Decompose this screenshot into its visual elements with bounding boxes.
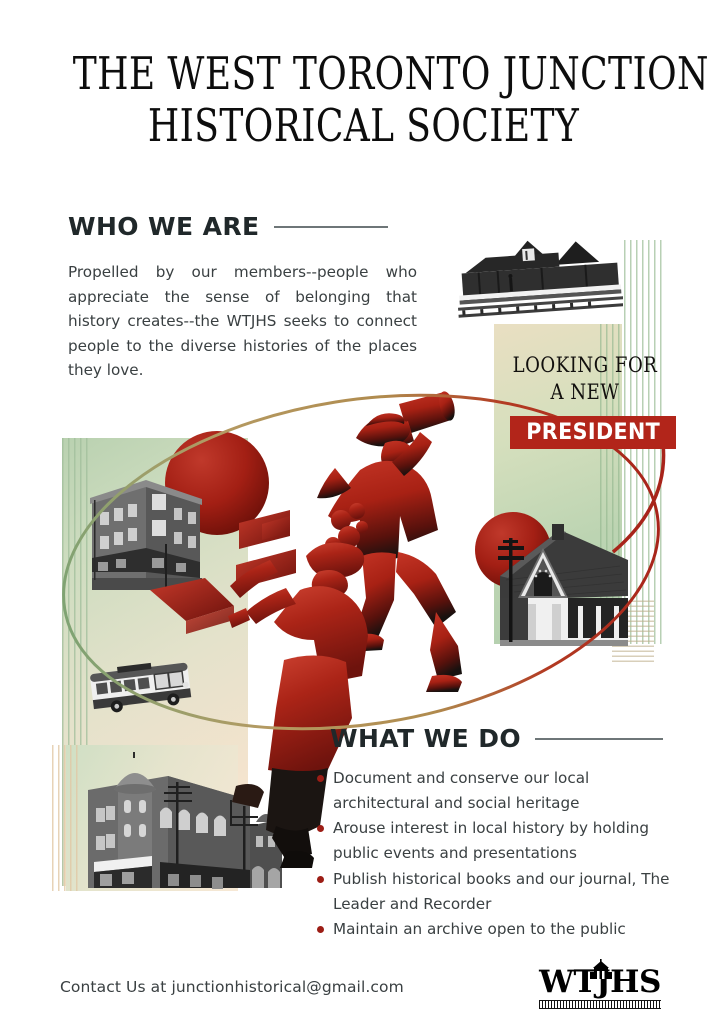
- what-we-do-heading-label: WHAT WE DO: [330, 724, 521, 753]
- callout-line-1: LOOKING FOR: [507, 352, 664, 379]
- who-we-are-body: Propelled by our members--people who app…: [68, 260, 417, 383]
- list-item: Publish historical books and our journal…: [316, 867, 676, 916]
- logo-building-icon: [588, 959, 614, 981]
- title-line-1: THE WEST TORONTO JUNCTION: [73, 48, 655, 100]
- bottom-left-gradient-panel: [66, 745, 238, 891]
- callout-line-2: A NEW: [507, 379, 664, 406]
- list-item: Document and conserve our local architec…: [316, 766, 676, 815]
- who-we-are-rule: [274, 226, 388, 228]
- list-item: Maintain an archive open to the public: [316, 917, 676, 942]
- poster-canvas: THE WEST TORONTO JUNCTION HISTORICAL SOC…: [0, 0, 727, 1024]
- who-we-are-heading-label: WHO WE ARE: [68, 212, 260, 241]
- list-item: Arouse interest in local history by hold…: [316, 816, 676, 865]
- what-we-do-heading: WHAT WE DO: [330, 724, 663, 753]
- president-band-label: PRESIDENT: [526, 420, 660, 445]
- page-title: THE WEST TORONTO JUNCTION HISTORICAL SOC…: [0, 48, 727, 152]
- president-band: PRESIDENT: [510, 416, 676, 449]
- what-we-do-rule: [535, 738, 663, 740]
- town-crier-silhouette: [317, 390, 462, 692]
- what-we-do-list: Document and conserve our local architec…: [316, 766, 676, 943]
- wtjhs-logo: WTJHS: [536, 963, 664, 1011]
- president-callout: LOOKING FOR A NEW: [494, 352, 676, 406]
- logo-baseline-rule: [539, 1000, 661, 1009]
- contact-line: Contact Us at junctionhistorical@gmail.c…: [60, 978, 404, 996]
- gothic-house-panel-stripes: [612, 600, 654, 662]
- who-we-are-heading: WHO WE ARE: [68, 212, 388, 241]
- bottom-left-panel-stripes: [52, 745, 78, 891]
- title-line-2: HISTORICAL SOCIETY: [73, 100, 655, 152]
